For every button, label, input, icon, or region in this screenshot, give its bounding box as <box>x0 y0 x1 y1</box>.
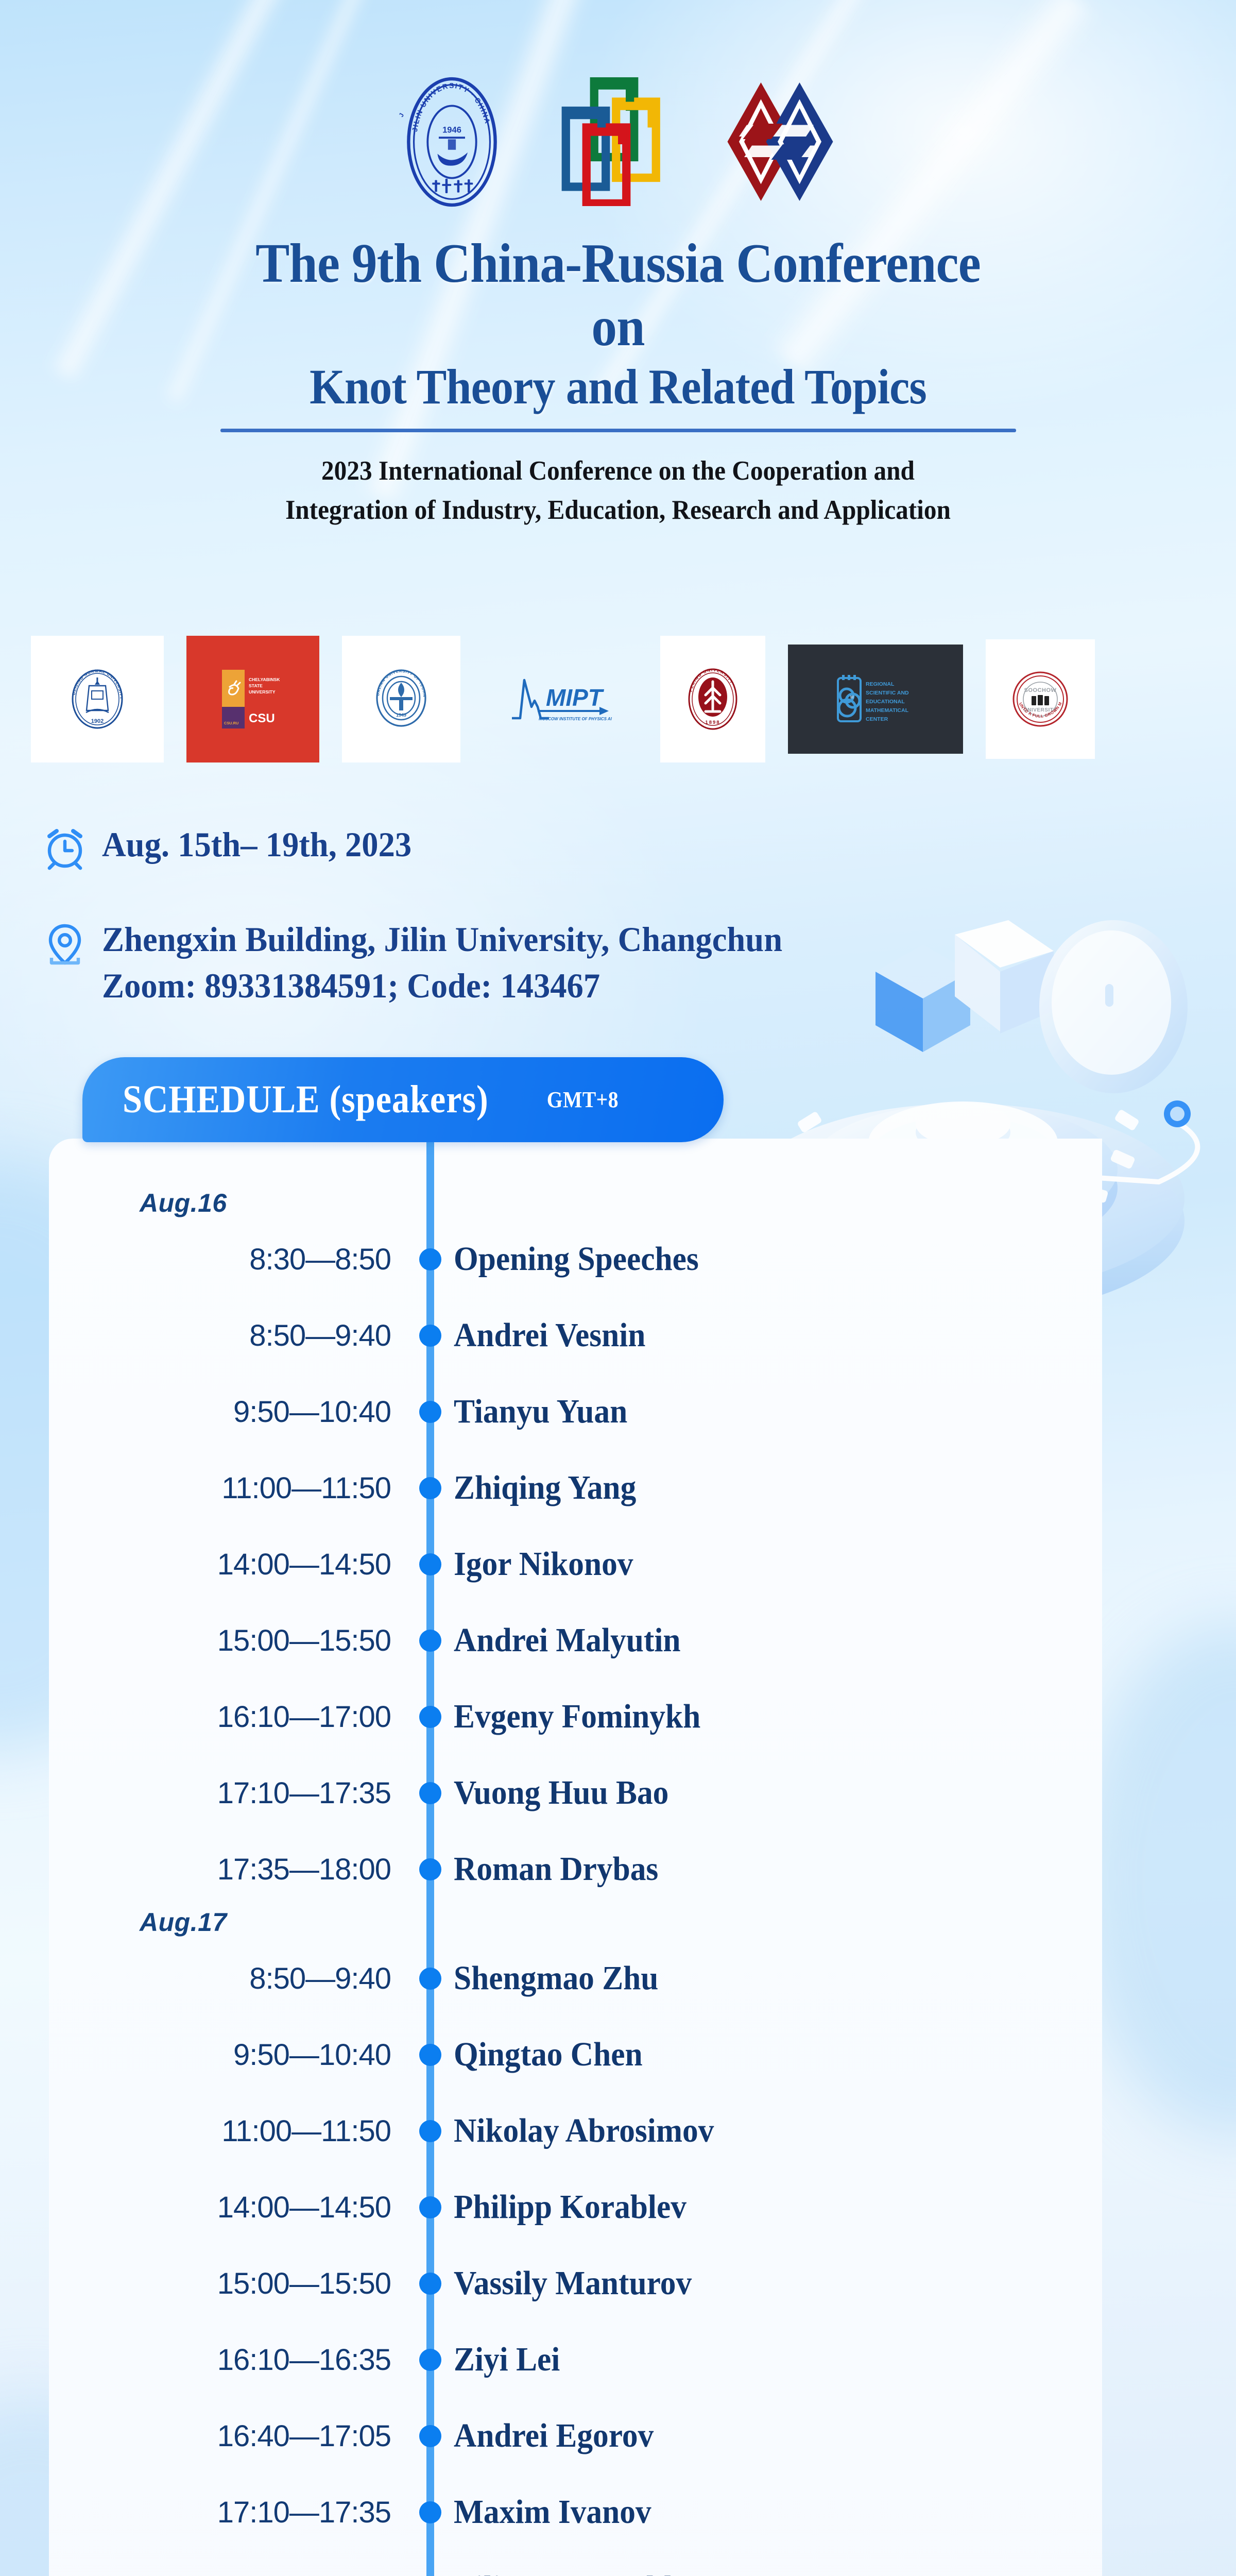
svg-text:MATHEMATICAL: MATHEMATICAL <box>866 707 909 714</box>
partner-logo-peking-university: 1898 PEKING UNIVERSITY <box>660 636 765 762</box>
timeline-row[interactable]: 14:00—14:50Igor Nikonov <box>49 1526 1102 1602</box>
location-pin-icon <box>40 919 90 968</box>
svg-text:1949: 1949 <box>396 713 406 718</box>
event-location-row: Zhengxin Building, Jilin University, Cha… <box>0 917 1236 1009</box>
regional-math-center-logo-icon: M REGIONAL SCIENTIFIC AND EDUCATIONAL MA… <box>832 672 919 726</box>
svg-text:CENTER: CENTER <box>866 716 888 722</box>
timeline-dot-icon <box>419 1553 441 1575</box>
timeline-row-speaker: Opening Speeches <box>454 1240 699 1279</box>
timeline-row[interactable]: 16:10—17:00Evgeny Fominykh <box>49 1679 1102 1755</box>
soochow-university-seal-icon: SOOCHOW UNIVERSITY UNTO A FULL GROWN MAN <box>1012 669 1069 729</box>
timeline-dot-icon <box>419 1782 441 1804</box>
timeline-row-time: 15:00—15:50 <box>49 1623 409 1658</box>
timeline-row-speaker: Liliya Grunvald <box>454 2569 673 2576</box>
timeline-row-time: 17:10—17:35 <box>49 1776 409 1810</box>
schedule-header-badge: SCHEDULE (speakers) GMT+8 <box>82 1057 724 1142</box>
timeline-dot-icon <box>419 2425 441 2447</box>
timeline-row-time: 8:50—9:40 <box>49 1961 409 1996</box>
timeline-row[interactable]: 15:00—15:50Vassily Manturov <box>49 2245 1102 2321</box>
jilin-university-seal-icon: 1946 J JILIN UNIVERSITY · CHINA <box>386 76 518 208</box>
title-block: The 9th China-Russia Conference on Knot … <box>0 232 1236 529</box>
timeline-row-time: 15:00—15:50 <box>49 2266 409 2301</box>
svg-text:CHELYABINSK: CHELYABINSK <box>249 677 280 682</box>
partner-logo-strip: 1902 BEIJING NORMAL UNIVERSITY CHELYABIN… <box>31 635 1205 764</box>
mipt-logo-icon: MIPT MOSCOW INSTITUTE OF PHYSICS AND TEC… <box>509 671 612 727</box>
timeline-row-speaker: Qingtao Chen <box>454 2035 643 2074</box>
timeline-row-time: 11:00—11:50 <box>49 2114 409 2148</box>
timeline-row-time: 8:30—8:50 <box>49 1242 409 1277</box>
timeline-row-speaker: Tianyu Yuan <box>454 1392 627 1431</box>
timeline-row-time: 14:00—14:50 <box>49 1547 409 1582</box>
peking-university-seal-icon: 1898 PEKING UNIVERSITY <box>684 667 741 731</box>
svg-text:MIPT: MIPT <box>546 684 605 711</box>
svg-text:EDUCATIONAL: EDUCATIONAL <box>866 699 905 705</box>
sino-russian-math-center-logo-icon <box>711 77 850 206</box>
timeline-dot-icon <box>419 1325 441 1347</box>
timeline-row-time: 16:40—17:05 <box>49 2419 409 2453</box>
timeline-row-time: 17:10—17:35 <box>49 2495 409 2530</box>
partner-logo-regional-scientific-educational-mathematical-center: M REGIONAL SCIENTIFIC AND EDUCATIONAL MA… <box>788 645 963 754</box>
timeline-dot-icon <box>419 2273 441 2295</box>
timeline-row[interactable]: 8:50—9:40Shengmao Zhu <box>49 1940 1102 2016</box>
svg-text:1946: 1946 <box>442 125 461 134</box>
svg-text:1902: 1902 <box>91 718 104 724</box>
conference-title-line3: Knot Theory and Related Topics <box>49 359 1187 415</box>
timeline-dot-icon <box>419 1248 441 1270</box>
svg-text:SOOCHOW: SOOCHOW <box>1024 687 1057 693</box>
timeline-row[interactable]: 17:35—18:00Roman Drybas <box>49 1831 1102 1907</box>
timeline-row[interactable]: 11:00—11:50Zhiqing Yang <box>49 1450 1102 1526</box>
svg-text:1898: 1898 <box>705 720 720 725</box>
conference-title-line1: The 9th China-Russia Conference <box>49 232 1187 295</box>
timeline-row-speaker: Philipp Korablev <box>454 2188 686 2227</box>
timeline-list: Aug.168:30—8:50Opening Speeches8:50—9:40… <box>49 1139 1102 2576</box>
timeline-row-speaker: Shengmao Zhu <box>454 1959 658 1998</box>
svg-text:UNIVERSITY: UNIVERSITY <box>249 689 276 694</box>
timeline-row[interactable]: 17:35—18:00Liliya Grunvald <box>49 2550 1102 2576</box>
timeline-dot-icon <box>419 1630 441 1652</box>
svg-text:CSU: CSU <box>249 711 275 725</box>
timeline-dot-icon <box>419 1968 441 1990</box>
timeline-dot-icon <box>419 2044 441 2066</box>
svg-text:SCIENTIFIC AND: SCIENTIFIC AND <box>866 690 909 696</box>
alarm-clock-icon <box>40 824 90 873</box>
timeline-row-speaker: Ziyi Lei <box>454 2340 560 2379</box>
poster-root: 1946 J JILIN UNIVERSITY · CHINA <box>0 0 1236 2576</box>
svg-text:CSU.RU: CSU.RU <box>224 721 238 725</box>
timeline-row-speaker: Andrei Malyutin <box>454 1621 681 1660</box>
timeline-row[interactable]: 14:00—14:50Philipp Korablev <box>49 2169 1102 2245</box>
timeline-row-time: 17:35—18:00 <box>49 1852 409 1887</box>
timeline-row[interactable]: 8:30—8:50Opening Speeches <box>49 1221 1102 1297</box>
timeline-dot-icon <box>419 2349 441 2371</box>
timeline-row[interactable]: 16:10—16:35Ziyi Lei <box>49 2321 1102 2398</box>
timeline-dot-icon <box>419 2120 441 2142</box>
timeline-row-time: 9:50—10:40 <box>49 1395 409 1429</box>
partner-logo-mipt: MIPT MOSCOW INSTITUTE OF PHYSICS AND TEC… <box>483 655 638 743</box>
schedule-title: SCHEDULE (speakers) <box>123 1077 489 1122</box>
timeline-row-speaker: Vassily Manturov <box>454 2264 692 2303</box>
partner-logo-chelyabinsk-state-university: CHELYABINSK STATE UNIVERSITY CSU CSU.RU <box>186 636 319 762</box>
timeline-row-time: 9:50—10:40 <box>49 2038 409 2072</box>
timeline-row-time: 16:10—16:35 <box>49 2343 409 2377</box>
timeline-row-speaker: Andrei Vesnin <box>454 1316 645 1355</box>
timeline-row-speaker: Maxim Ivanov <box>454 2493 651 2532</box>
svg-text:M: M <box>850 695 854 700</box>
timeline-row-speaker: Vuong Huu Bao <box>454 1773 668 1812</box>
timeline-row[interactable]: 8:50—9:40Andrei Vesnin <box>49 1297 1102 1374</box>
svg-text:J: J <box>398 112 406 118</box>
timeline-row-time: 11:00—11:50 <box>49 1471 409 1505</box>
dalian-university-of-technology-seal-icon: 1949 DALIAN UNIVERSITY OF TECHNOLOGY <box>370 668 432 730</box>
timeline-row-time: 17:35—18:00 <box>49 2571 409 2576</box>
timeline-dot-icon <box>419 1401 441 1423</box>
timeline-row-speaker: Zhiqing Yang <box>454 1468 636 1507</box>
event-venue-text: Zhengxin Building, Jilin University, Cha… <box>102 917 782 963</box>
title-divider <box>220 429 1016 432</box>
timeline-row-time: 16:10—17:00 <box>49 1700 409 1734</box>
timeline-row[interactable]: 17:10—17:35Maxim Ivanov <box>49 2474 1102 2550</box>
chelyabinsk-state-university-logo-icon: CHELYABINSK STATE UNIVERSITY CSU CSU.RU <box>222 670 284 728</box>
timeline-row-time: 14:00—14:50 <box>49 2190 409 2225</box>
timeline-dot-icon <box>419 1477 441 1499</box>
timeline-row-speaker: Igor Nikonov <box>454 1545 633 1584</box>
timeline-dot-icon <box>419 2196 441 2218</box>
beijing-normal-university-seal-icon: 1902 BEIJING NORMAL UNIVERSITY <box>66 668 128 730</box>
timeline-row-speaker: Andrei Egorov <box>454 2416 654 2455</box>
header-logo-row: 1946 J JILIN UNIVERSITY · CHINA <box>0 57 1236 227</box>
timeline-dot-icon <box>419 1706 441 1728</box>
timeline-day-label: Aug.16 <box>49 1188 1102 1218</box>
partner-logo-dalian-university-of-technology: 1949 DALIAN UNIVERSITY OF TECHNOLOGY <box>342 636 460 762</box>
conference-subtitle-line1: 2023 International Conference on the Coo… <box>43 453 1193 489</box>
partner-logo-soochow-university: SOOCHOW UNIVERSITY UNTO A FULL GROWN MAN <box>986 639 1095 759</box>
schedule-timezone: GMT+8 <box>546 1087 618 1113</box>
event-date-row: Aug. 15th– 19th, 2023 <box>0 822 1236 873</box>
timeline-row[interactable]: 9:50—10:40Qingtao Chen <box>49 2016 1102 2093</box>
timeline-row[interactable]: 16:40—17:05Andrei Egorov <box>49 2398 1102 2474</box>
timeline-row[interactable]: 17:10—17:35Vuong Huu Bao <box>49 1755 1102 1831</box>
conference-title-line2: on <box>49 295 1187 359</box>
timeline-dot-icon <box>419 1858 441 1880</box>
knot-theory-logo-icon <box>559 77 669 206</box>
partner-logo-beijing-normal-university: 1902 BEIJING NORMAL UNIVERSITY <box>31 636 164 762</box>
timeline-day-label: Aug.17 <box>49 1907 1102 1937</box>
svg-text:STATE: STATE <box>249 683 263 688</box>
timeline-row[interactable]: 11:00—11:50Nikolay Abrosimov <box>49 2093 1102 2169</box>
timeline-dot-icon <box>419 2501 441 2523</box>
timeline-row[interactable]: 9:50—10:40Tianyu Yuan <box>49 1374 1102 1450</box>
event-info: Aug. 15th– 19th, 2023 Zhengxin Building,… <box>0 822 1236 1009</box>
schedule-panel: Aug.168:30—8:50Opening Speeches8:50—9:40… <box>49 1139 1102 2576</box>
timeline-row-speaker: Evgeny Fominykh <box>454 1697 700 1736</box>
svg-text:REGIONAL: REGIONAL <box>866 681 895 687</box>
conference-subtitle-line2: Integration of Industry, Education, Rese… <box>43 492 1193 528</box>
timeline-row[interactable]: 15:00—15:50Andrei Malyutin <box>49 1602 1102 1679</box>
event-zoom-text: Zoom: 89331384591; Code: 143467 <box>102 963 782 1009</box>
event-date-text: Aug. 15th– 19th, 2023 <box>102 822 411 868</box>
timeline-row-speaker: Roman Drybas <box>454 1850 658 1889</box>
timeline-row-speaker: Nikolay Abrosimov <box>454 2111 714 2150</box>
timeline-row-time: 8:50—9:40 <box>49 1318 409 1353</box>
svg-text:DALIAN UNIVERSITY OF TECHNOLOG: DALIAN UNIVERSITY OF TECHNOLOGY <box>370 668 427 698</box>
svg-text:MOSCOW INSTITUTE OF PHYSICS AN: MOSCOW INSTITUTE OF PHYSICS AND TECHNOLO… <box>539 717 612 721</box>
